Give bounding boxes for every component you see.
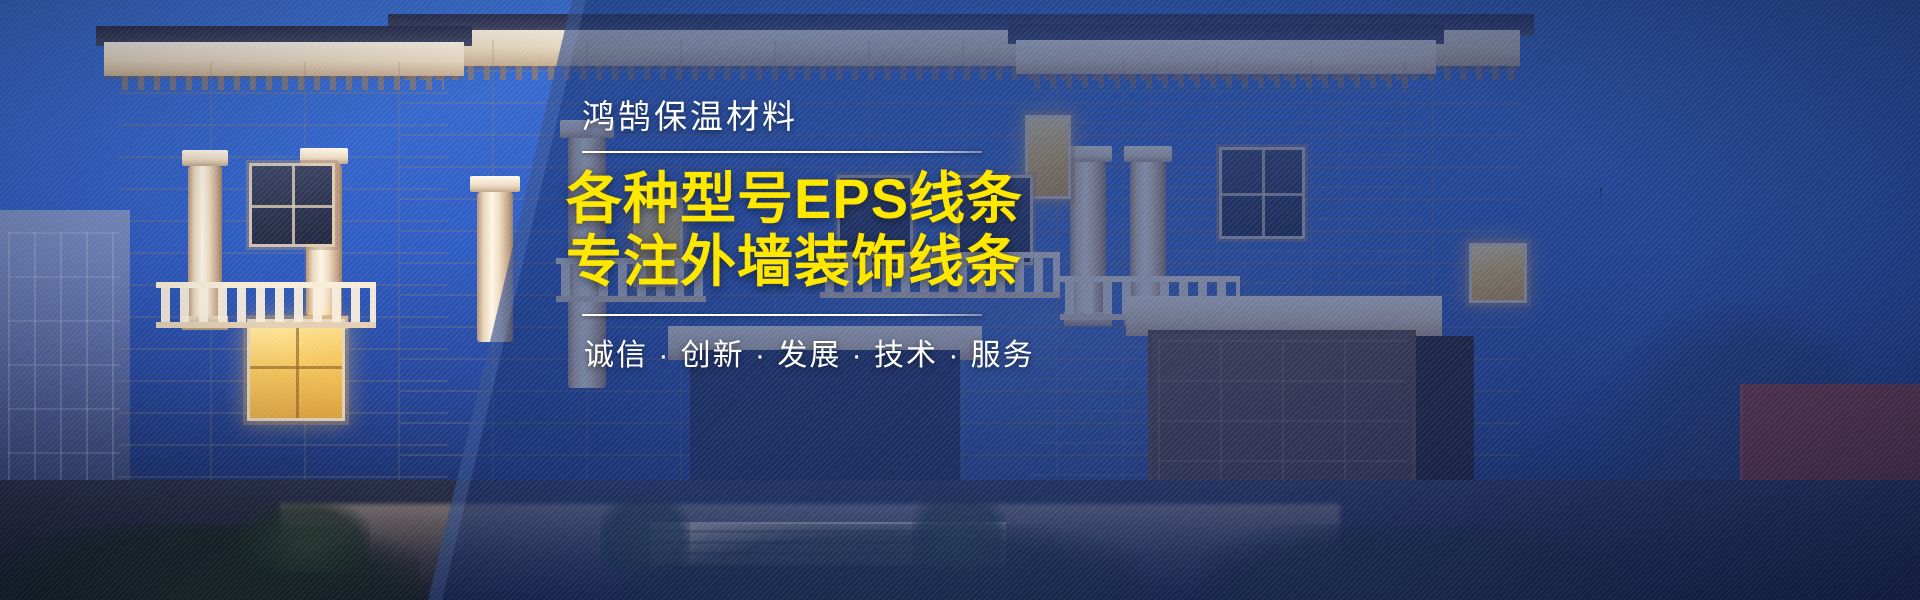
window-mullion [250, 366, 342, 369]
column-capital [300, 148, 348, 164]
tagline: 诚信 · 创新 · 发展 · 技术 · 服务 [584, 330, 1036, 374]
column-capital [470, 176, 520, 192]
window-upper-left [252, 166, 332, 244]
divider-bottom [582, 314, 982, 316]
shrub-left [240, 502, 370, 572]
window-lit-lower-left [250, 322, 342, 418]
headline-line-2: 专注外墙装饰线条 [566, 232, 1036, 292]
window-mullion [252, 205, 332, 208]
balustrade-left [156, 282, 376, 328]
headline-line-1: 各种型号EPS线条 [566, 169, 1036, 229]
banner-copy-block: 鸿鹄保温材料 各种型号EPS线条 专注外墙装饰线条 诚信 · 创新 · 发展 ·… [566, 96, 1036, 374]
dentil-band-left [122, 76, 444, 90]
promo-banner: 鸿鹄保温材料 各种型号EPS线条 专注外墙装饰线条 诚信 · 创新 · 发展 ·… [0, 0, 1920, 600]
window-mullion [296, 322, 299, 418]
divider-top [582, 151, 982, 153]
company-name: 鸿鹄保温材料 [582, 96, 1036, 137]
column-capital [182, 150, 228, 166]
